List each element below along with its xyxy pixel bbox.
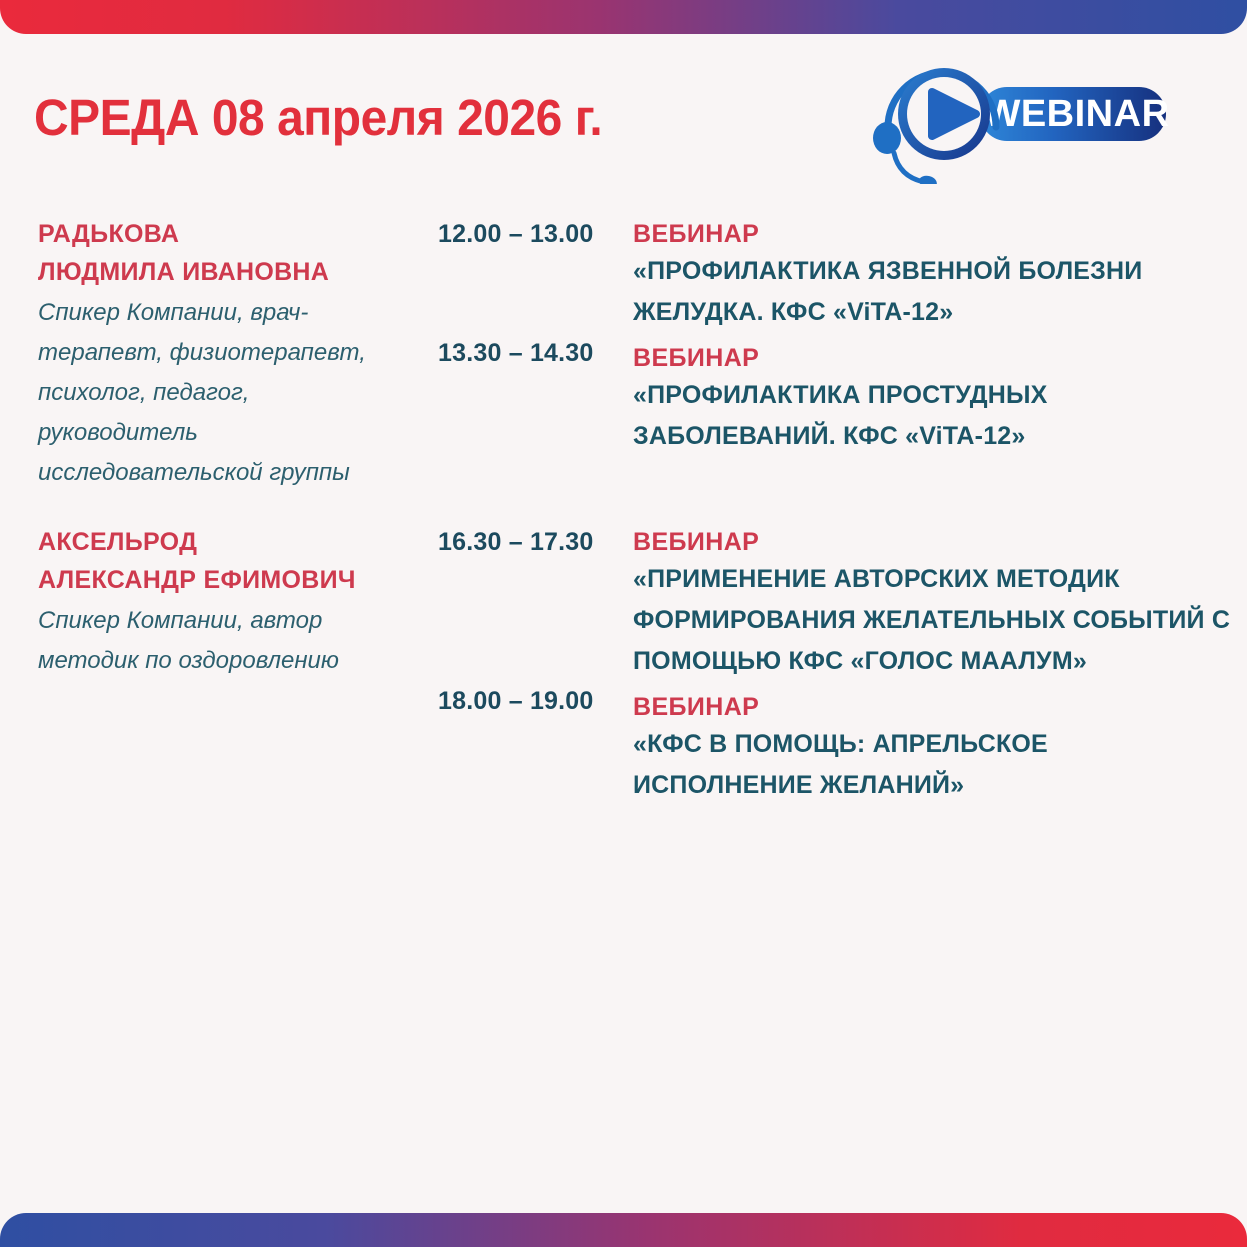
event-title-line: «ПРОФИЛАКТИКА ПРОСТУДНЫХ — [633, 375, 1218, 416]
page-title: СРЕДА 08 апреля 2026 г. — [34, 88, 602, 147]
headset-mic-tip-icon — [918, 174, 938, 184]
speaker-surname: АКСЕЛЬРОД — [38, 523, 428, 561]
event-item: ВЕБИНАР «КФС В ПОМОЩЬ: АПРЕЛЬСКОЕ ИСПОЛН… — [633, 690, 1230, 806]
event-title: «ПРОФИЛАКТИКА ЯЗВЕННОЙ БОЛЕЗНИ ЖЕЛУДКА. … — [633, 251, 1218, 333]
speaker-role-line: терапевт, физиотерапевт, — [38, 333, 428, 373]
event-title: «ПРИМЕНЕНИЕ АВТОРСКИХ МЕТОДИК ФОРМИРОВАН… — [633, 559, 1230, 682]
time-slot: 13.30 – 14.30 — [438, 336, 633, 370]
events-column: ВЕБИНАР «ПРИМЕНЕНИЕ АВТОРСКИХ МЕТОДИК ФО… — [633, 523, 1230, 806]
event-kind-label: ВЕБИНАР — [633, 525, 1230, 559]
webinar-pill: WEBINAR — [980, 87, 1170, 141]
speaker-role-line: исследовательской группы — [38, 453, 428, 493]
speaker-info: РАДЬКОВА ЛЮДМИЛА ИВАНОВНА Спикер Компани… — [38, 215, 438, 493]
event-title-line: «КФС В ПОМОЩЬ: АПРЕЛЬСКОЕ — [633, 724, 1230, 765]
top-gradient-bar — [0, 0, 1247, 34]
event-title-line: «ПРИМЕНЕНИЕ АВТОРСКИХ МЕТОДИК — [633, 559, 1230, 600]
webinar-logo-svg: WEBINAR — [872, 54, 1172, 184]
speaker-role: Спикер Компании, автор методик по оздоро… — [38, 601, 428, 681]
event-item: ВЕБИНАР «ПРИМЕНЕНИЕ АВТОРСКИХ МЕТОДИК ФО… — [633, 525, 1230, 682]
speaker-role-line: методик по оздоровлению — [38, 641, 428, 681]
time-slot: 16.30 – 17.30 — [438, 525, 633, 559]
event-title: «ПРОФИЛАКТИКА ПРОСТУДНЫХ ЗАБОЛЕВАНИЙ. КФ… — [633, 375, 1218, 457]
time-slot: 12.00 – 13.00 — [438, 217, 633, 251]
event-title-line: ИСПОЛНЕНИЕ ЖЕЛАНИЙ» — [633, 765, 1230, 806]
event-title-line: ПОМОЩЬЮ КФС «ГОЛОС МААЛУМ» — [633, 641, 1230, 682]
event-kind-label: ВЕБИНАР — [633, 690, 1230, 724]
speaker-role-line: Спикер Компании, врач- — [38, 293, 428, 333]
speaker-surname: РАДЬКОВА — [38, 215, 428, 253]
speaker-role-line: психолог, педагог, — [38, 373, 428, 413]
speaker-role-line: руководитель — [38, 413, 428, 453]
events-column: ВЕБИНАР «ПРОФИЛАКТИКА ЯЗВЕННОЙ БОЛЕЗНИ Ж… — [633, 215, 1218, 493]
event-title: «КФС В ПОМОЩЬ: АПРЕЛЬСКОЕ ИСПОЛНЕНИЕ ЖЕЛ… — [633, 724, 1230, 806]
schedule-block: АКСЕЛЬРОД АЛЕКСАНДР ЕФИМОВИЧ Спикер Комп… — [38, 523, 1218, 806]
event-title-line: ЗАБОЛЕВАНИЙ. КФС «ViTA-12» — [633, 416, 1218, 457]
speaker-info: АКСЕЛЬРОД АЛЕКСАНДР ЕФИМОВИЧ Спикер Комп… — [38, 523, 438, 806]
event-title-line: «ПРОФИЛАКТИКА ЯЗВЕННОЙ БОЛЕЗНИ — [633, 251, 1218, 292]
speaker-given-names: ЛЮДМИЛА ИВАНОВНА — [38, 253, 428, 291]
headset-mic-boom-icon — [894, 153, 924, 182]
webinar-schedule-poster: СРЕДА 08 апреля 2026 г. WEBINAR — [0, 0, 1247, 1247]
webinar-logo: WEBINAR — [872, 54, 1172, 184]
webinar-pill-label: WEBINAR — [984, 93, 1169, 135]
event-title-line: ФОРМИРОВАНИЯ ЖЕЛАТЕЛЬНЫХ СОБЫТИЙ С — [633, 600, 1230, 641]
event-item: ВЕБИНАР «ПРОФИЛАКТИКА ЯЗВЕННОЙ БОЛЕЗНИ Ж… — [633, 217, 1218, 333]
time-column: 12.00 – 13.00 13.30 – 14.30 — [438, 215, 633, 493]
schedule-block: РАДЬКОВА ЛЮДМИЛА ИВАНОВНА Спикер Компани… — [38, 215, 1218, 493]
speaker-role-line: Спикер Компании, автор — [38, 601, 428, 641]
time-column: 16.30 – 17.30 18.00 – 19.00 — [438, 523, 633, 806]
speaker-role: Спикер Компании, врач- терапевт, физиоте… — [38, 293, 428, 493]
schedule-list: РАДЬКОВА ЛЮДМИЛА ИВАНОВНА Спикер Компани… — [38, 215, 1218, 806]
event-kind-label: ВЕБИНАР — [633, 217, 1218, 251]
event-title-line: ЖЕЛУДКА. КФС «ViTA-12» — [633, 292, 1218, 333]
play-button-icon — [898, 68, 990, 160]
time-slot: 18.00 – 19.00 — [438, 684, 633, 718]
event-kind-label: ВЕБИНАР — [633, 341, 1218, 375]
speaker-given-names: АЛЕКСАНДР ЕФИМОВИЧ — [38, 561, 428, 599]
headset-earpad-icon — [873, 122, 901, 154]
event-item: ВЕБИНАР «ПРОФИЛАКТИКА ПРОСТУДНЫХ ЗАБОЛЕВ… — [633, 341, 1218, 457]
bottom-gradient-bar — [0, 1213, 1247, 1247]
